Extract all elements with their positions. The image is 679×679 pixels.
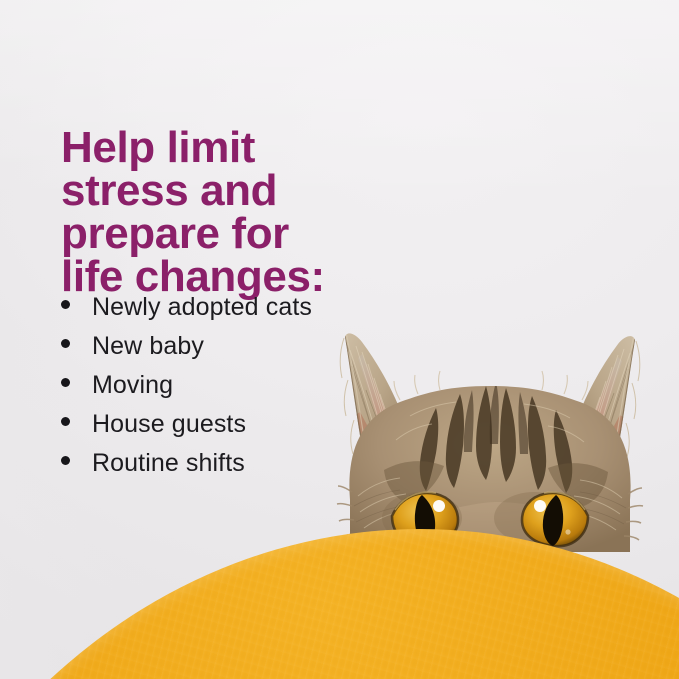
bullet-dot-icon	[61, 300, 70, 309]
bullet-dot-icon	[61, 417, 70, 426]
list-item: New baby	[61, 331, 391, 370]
bullet-dot-icon	[61, 339, 70, 348]
list-item: Moving	[61, 370, 391, 409]
list-item-label: New baby	[92, 331, 204, 361]
list-item-label: Routine shifts	[92, 448, 245, 478]
list-item-label: Moving	[92, 370, 173, 400]
list-item-label: House guests	[92, 409, 246, 439]
bullet-dot-icon	[61, 456, 70, 465]
list-item: House guests	[61, 409, 391, 448]
list-item: Newly adopted cats	[61, 292, 391, 331]
list-item: Routine shifts	[61, 448, 391, 487]
poster-canvas: Help limit stress and prepare for life c…	[0, 0, 679, 679]
bullet-dot-icon	[61, 378, 70, 387]
list-item-label: Newly adopted cats	[92, 292, 312, 322]
life-changes-list: Newly adopted cats New baby Moving House…	[61, 292, 391, 487]
page-title: Help limit stress and prepare for life c…	[61, 126, 391, 298]
